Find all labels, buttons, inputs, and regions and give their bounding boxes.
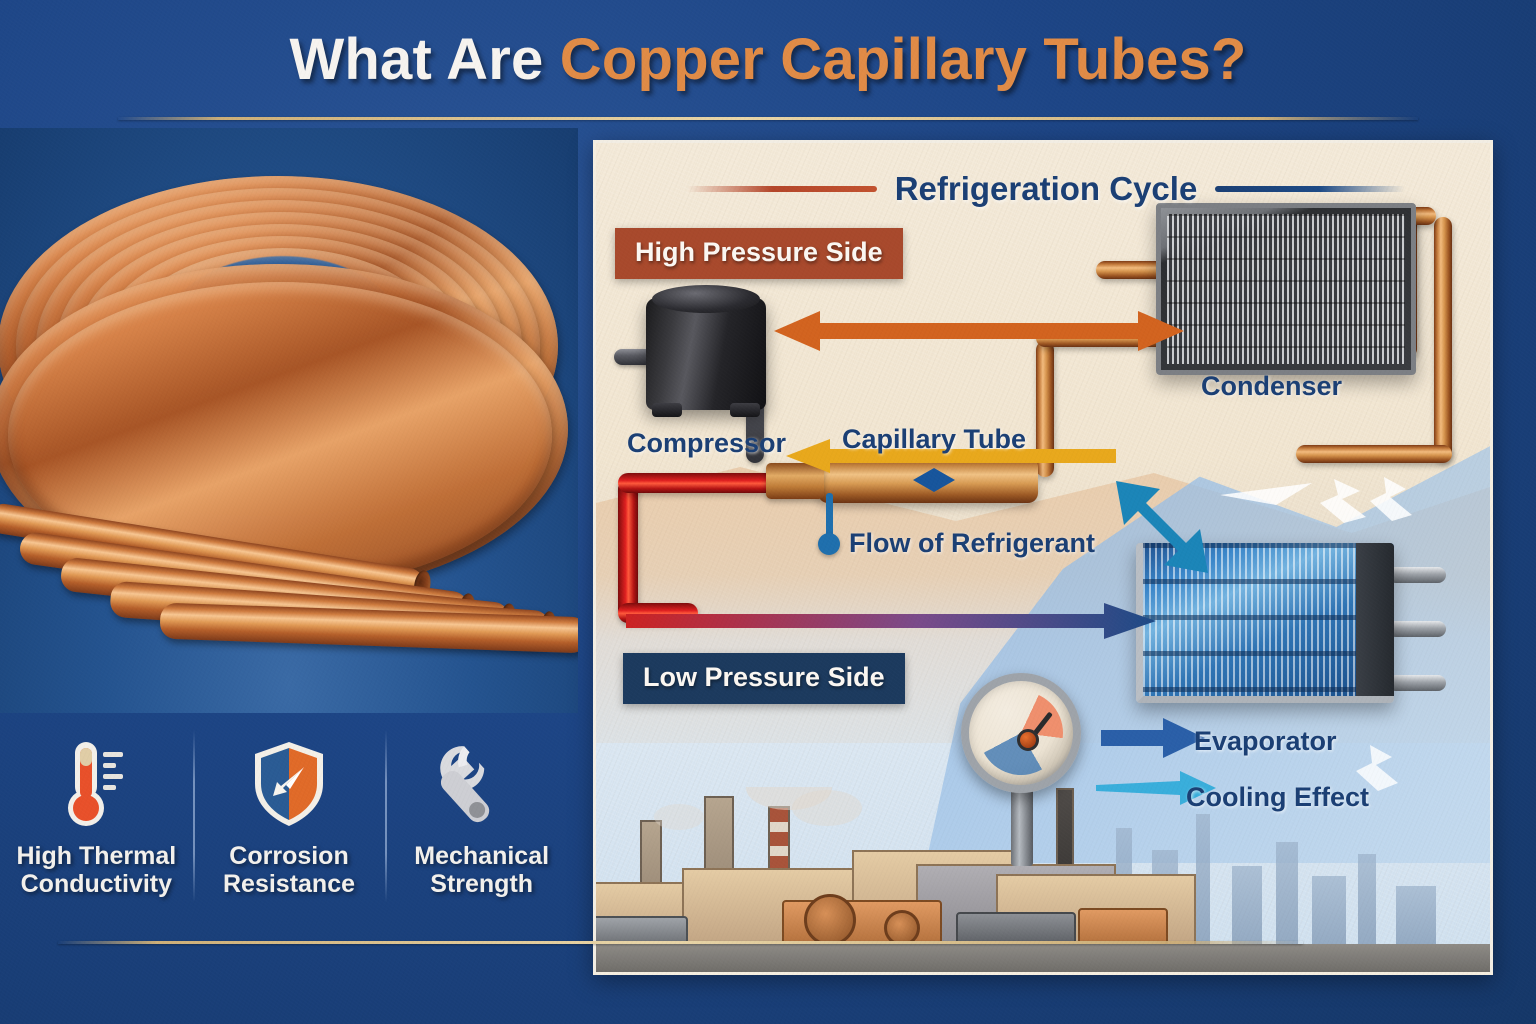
suction-pipe-vertical bbox=[618, 479, 638, 619]
evaporator-pointer-arrow bbox=[1101, 718, 1205, 758]
feature-label-line1: High Thermal bbox=[0, 842, 193, 870]
feature-label-line2: Strength bbox=[385, 870, 578, 898]
feature-list: High Thermal Conductivity Corrosion Resi… bbox=[0, 722, 578, 934]
evaporator-header bbox=[1356, 543, 1394, 696]
page-title-part-1: What Are bbox=[289, 27, 559, 92]
condenser-fins bbox=[1167, 214, 1405, 364]
label-compressor: Compressor bbox=[627, 428, 786, 459]
title-divider bbox=[118, 117, 1418, 120]
copper-pipe-condenser-out bbox=[1434, 217, 1452, 461]
label-cooling-effect: Cooling Effect bbox=[1186, 782, 1369, 813]
compressor-unit bbox=[646, 298, 766, 410]
label-evaporator: Evaporator bbox=[1194, 726, 1337, 757]
page-header: What Are Copper Capillary Tubes? bbox=[0, 14, 1536, 104]
coil-illustration bbox=[0, 142, 578, 572]
low-pressure-flow-arrow bbox=[626, 603, 1156, 639]
feature-high-thermal-conductivity[interactable]: High Thermal Conductivity bbox=[0, 722, 193, 898]
copper-tubing-coil-photo bbox=[0, 128, 578, 713]
title-rule-left bbox=[687, 186, 877, 192]
feature-label: Mechanical Strength bbox=[385, 842, 578, 898]
gauge-hub bbox=[1017, 729, 1039, 751]
feature-label-line2: Resistance bbox=[193, 870, 386, 898]
shield-icon bbox=[193, 736, 386, 832]
page-title-part-2: Copper Capillary Tubes? bbox=[560, 27, 1247, 92]
label-flow-of-refrigerant: Flow of Refrigerant bbox=[849, 528, 1095, 559]
ground bbox=[596, 944, 1493, 972]
page-title: What Are Copper Capillary Tubes? bbox=[289, 26, 1246, 93]
condenser-unit bbox=[1156, 203, 1416, 375]
flow-marker-stem bbox=[826, 493, 833, 537]
diagram-title-row: Refrigeration Cycle bbox=[596, 165, 1493, 213]
cold-air-diagonal-arrow bbox=[1116, 481, 1208, 573]
high-pressure-double-arrow bbox=[774, 311, 1184, 351]
thermometer-icon bbox=[0, 736, 193, 832]
feature-label-line1: Mechanical bbox=[385, 842, 578, 870]
flow-marker-dot bbox=[818, 533, 840, 555]
pressure-gauge bbox=[961, 673, 1081, 793]
industrial-scene bbox=[596, 787, 1493, 972]
diagram-title: Refrigeration Cycle bbox=[895, 170, 1198, 208]
feature-mechanical-strength[interactable]: Mechanical Strength bbox=[385, 722, 578, 898]
feature-label-line2: Conductivity bbox=[0, 870, 193, 898]
feature-label: Corrosion Resistance bbox=[193, 842, 386, 898]
copper-pipe-return-low bbox=[1296, 445, 1452, 463]
badge-low-pressure-side: Low Pressure Side bbox=[623, 653, 905, 704]
title-rule-right bbox=[1215, 186, 1405, 192]
gauge-stem bbox=[1011, 788, 1033, 866]
airflow-swoosh-icons bbox=[1216, 473, 1446, 543]
feature-label: High Thermal Conductivity bbox=[0, 842, 193, 898]
refrigeration-cycle-diagram: Refrigeration Cycle High Pressure Side L… bbox=[593, 140, 1493, 975]
badge-high-pressure-side: High Pressure Side bbox=[615, 228, 903, 279]
footer-divider bbox=[58, 941, 1303, 944]
feature-corrosion-resistance[interactable]: Corrosion Resistance bbox=[193, 722, 386, 898]
label-capillary-tube: Capillary Tube bbox=[842, 424, 1026, 455]
wrench-icon bbox=[385, 736, 578, 832]
feature-label-line1: Corrosion bbox=[193, 842, 386, 870]
label-condenser: Condenser bbox=[1201, 371, 1342, 402]
